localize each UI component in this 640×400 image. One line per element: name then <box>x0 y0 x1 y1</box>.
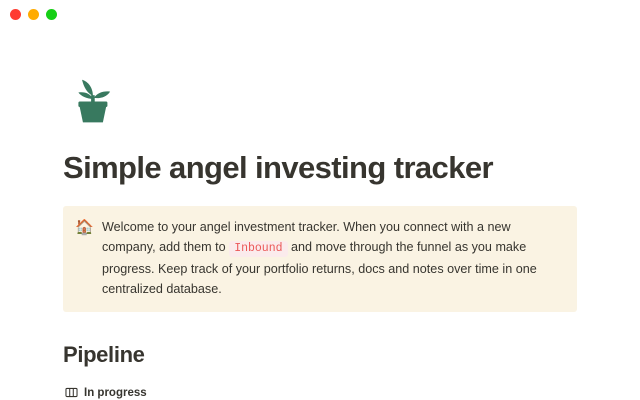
inline-code-inbound: Inbound <box>229 241 287 257</box>
page-title: Simple angel investing tracker <box>63 150 640 187</box>
potted-plant-icon[interactable] <box>63 68 121 126</box>
traffic-light-group <box>10 9 57 20</box>
zoom-button[interactable] <box>46 9 57 20</box>
house-icon: 🏠 <box>75 218 93 236</box>
callout-block[interactable]: 🏠 Welcome to your angel investment track… <box>63 206 577 312</box>
callout-text: Welcome to your angel investment tracker… <box>102 217 563 299</box>
board-icon <box>65 386 78 399</box>
view-tab-list: In progress <box>63 381 640 400</box>
minimize-button[interactable] <box>28 9 39 20</box>
close-button[interactable] <box>10 9 21 20</box>
tab-in-progress-label: In progress <box>84 387 147 399</box>
page-content: Simple angel investing tracker 🏠 Welcome… <box>0 28 640 400</box>
app-window: Simple angel investing tracker 🏠 Welcome… <box>0 0 640 400</box>
database-view-bar: In progress <box>63 381 640 400</box>
tab-in-progress[interactable]: In progress <box>63 381 155 400</box>
section-heading-pipeline: Pipeline <box>63 342 640 368</box>
window-titlebar <box>0 0 640 28</box>
